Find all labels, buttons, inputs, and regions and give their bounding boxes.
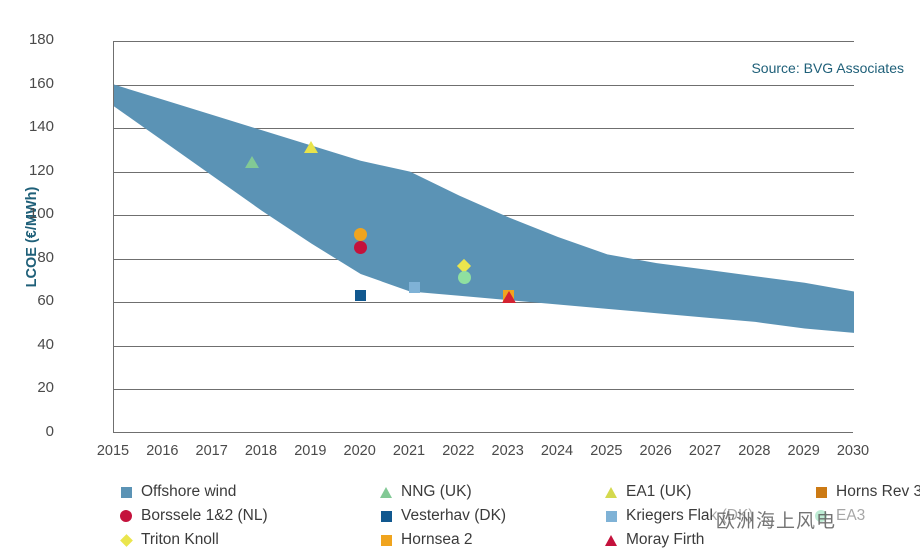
- legend-item[interactable]: Horns Rev 3 (DK): [813, 480, 920, 504]
- circle-icon: [120, 510, 132, 522]
- offshore-wind-band: [114, 41, 854, 433]
- legend-item[interactable]: Vesterhav (DK): [378, 504, 506, 528]
- y-axis-tick-label: 40: [0, 336, 54, 353]
- legend-label: Hornsea 2: [401, 531, 473, 549]
- y-axis-tick-label: 160: [0, 75, 54, 92]
- y-axis-tick-label: 180: [0, 31, 54, 48]
- legend-item[interactable]: Offshore wind: [118, 480, 268, 504]
- circle-icon: [815, 510, 827, 522]
- square-icon: [121, 487, 132, 498]
- legend-item[interactable]: Hornsea 2: [378, 528, 506, 552]
- legend-item[interactable]: Kriegers Flak (DK): [603, 504, 753, 528]
- x-axis-tick-label: 2030: [823, 443, 883, 459]
- y-axis-tick-label: 140: [0, 118, 54, 135]
- legend-swatch: [603, 511, 619, 522]
- legend-swatch: [118, 487, 134, 498]
- legend-item[interactable]: NNG (UK): [378, 480, 506, 504]
- legend-label: Offshore wind: [141, 483, 236, 501]
- square-icon: [381, 511, 392, 522]
- legend-swatch: [378, 487, 394, 498]
- legend-label: NNG (UK): [401, 483, 472, 501]
- legend-label: Kriegers Flak (DK): [626, 507, 753, 525]
- legend-swatch: [813, 487, 829, 498]
- legend-swatch: [378, 511, 394, 522]
- legend-swatch: [118, 536, 134, 545]
- data-point-marker: [245, 156, 259, 168]
- legend-label: Horns Rev 3 (DK): [836, 483, 920, 501]
- legend-label: Triton Knoll: [141, 531, 219, 549]
- legend-item[interactable]: EA1 (UK): [603, 480, 753, 504]
- y-axis-tick-label: 0: [0, 423, 54, 440]
- legend-column: NNG (UK)Vesterhav (DK)Hornsea 2: [378, 480, 506, 552]
- square-icon: [381, 535, 392, 546]
- data-point-marker: [458, 271, 471, 284]
- triangle-icon: [380, 487, 392, 498]
- data-point-marker: [502, 291, 516, 303]
- legend-label: Borssele 1&2 (NL): [141, 507, 268, 525]
- chart-legend: Offshore windBorssele 1&2 (NL)Triton Kno…: [113, 480, 913, 552]
- legend-column: EA1 (UK)Kriegers Flak (DK)Moray Firth: [603, 480, 753, 552]
- legend-item[interactable]: Triton Knoll: [118, 528, 268, 552]
- data-point-marker: [409, 282, 420, 293]
- chart-container: LCOE (€/MWh) 020406080100120140160180 20…: [0, 0, 920, 557]
- legend-label: EA3: [836, 507, 865, 525]
- triangle-icon: [605, 487, 617, 498]
- legend-swatch: [603, 535, 619, 546]
- legend-label: Vesterhav (DK): [401, 507, 506, 525]
- legend-column: Offshore windBorssele 1&2 (NL)Triton Kno…: [118, 480, 268, 552]
- triangle-icon: [605, 535, 617, 546]
- y-axis-tick-label: 80: [0, 249, 54, 266]
- y-axis-tick-label: 120: [0, 162, 54, 179]
- source-note: Source: BVG Associates: [751, 60, 904, 76]
- legend-swatch: [378, 535, 394, 546]
- diamond-icon: [120, 534, 133, 547]
- data-point-marker: [355, 290, 366, 301]
- square-icon: [816, 487, 827, 498]
- legend-label: Moray Firth: [626, 531, 704, 549]
- legend-label: EA1 (UK): [626, 483, 691, 501]
- legend-item[interactable]: EA3: [813, 504, 920, 528]
- square-icon: [606, 511, 617, 522]
- legend-column: Horns Rev 3 (DK)EA3: [813, 480, 920, 528]
- data-point-marker: [304, 141, 318, 153]
- legend-item[interactable]: Borssele 1&2 (NL): [118, 504, 268, 528]
- legend-swatch: [813, 510, 829, 522]
- y-axis-tick-label: 20: [0, 379, 54, 396]
- y-axis-tick-label: 60: [0, 292, 54, 309]
- legend-swatch: [118, 510, 134, 522]
- legend-swatch: [603, 487, 619, 498]
- plot-area: [113, 41, 853, 433]
- band-polygon: [114, 85, 854, 333]
- y-axis-tick-label: 100: [0, 205, 54, 222]
- legend-item[interactable]: Moray Firth: [603, 528, 753, 552]
